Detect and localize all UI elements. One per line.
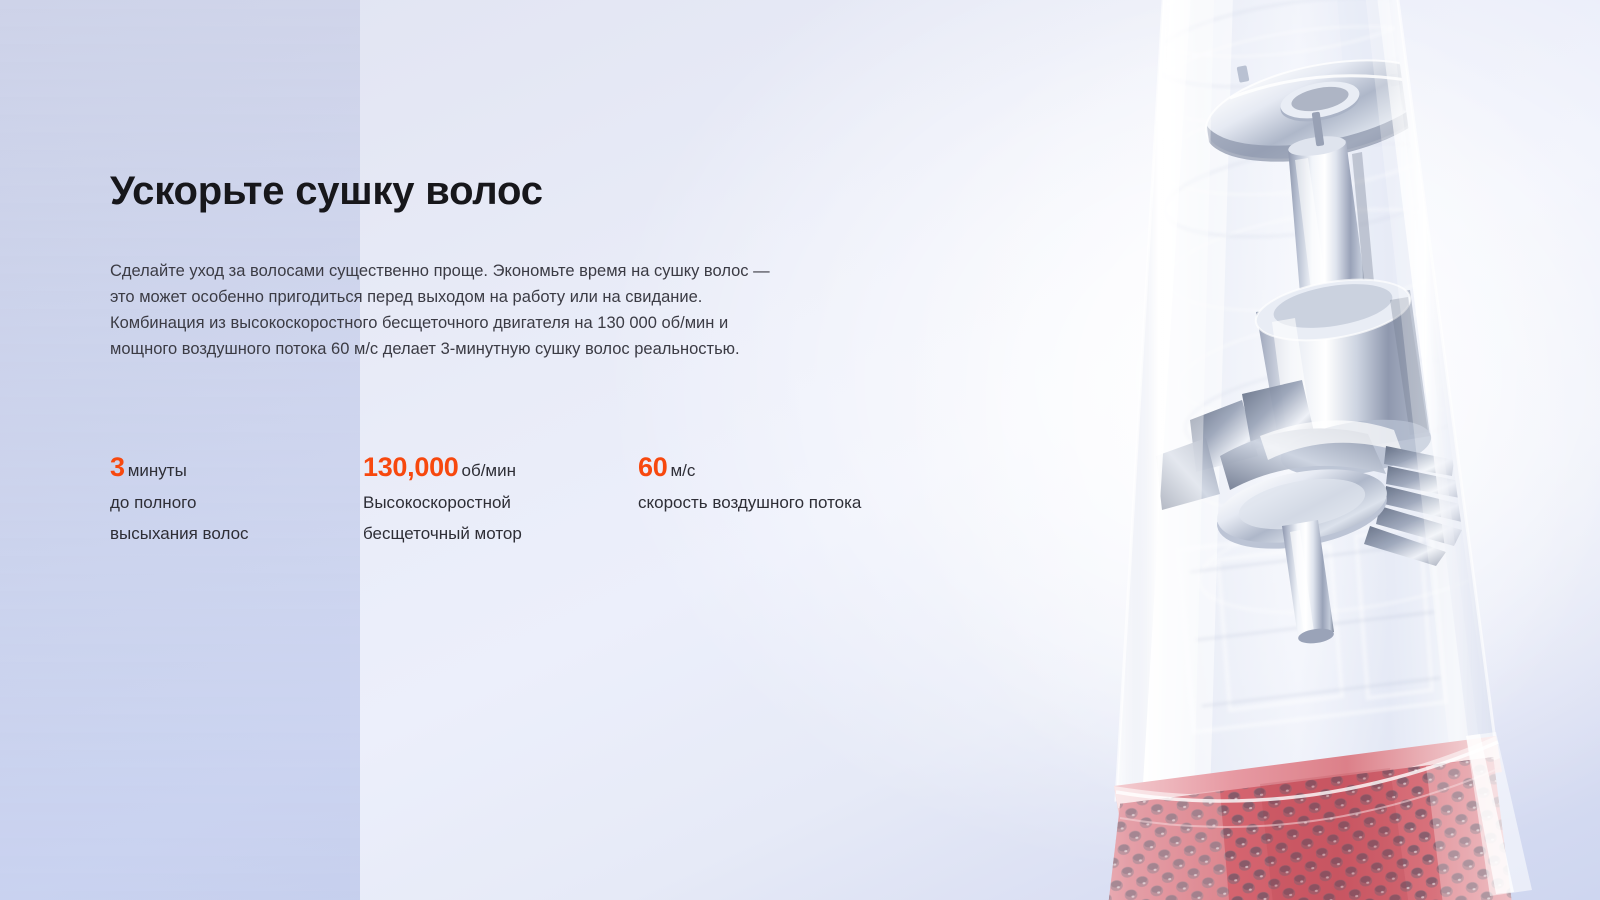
body-paragraph: Сделайте уход за волосами существенно пр… — [110, 258, 782, 362]
stat-headline: 130,000об/мин — [363, 452, 638, 486]
stat-unit: минуты — [128, 461, 187, 480]
stat-motor-rpm: 130,000об/мин Высокоскоростной бесщеточн… — [363, 452, 638, 548]
stats-row: 3минуты до полного высыхания волос 130,0… — [110, 452, 861, 548]
copy-block: Ускорьте сушку волос Сделайте уход за во… — [110, 168, 810, 362]
stat-description-line-1: скорость воздушного потока — [638, 488, 861, 517]
stat-unit: об/мин — [462, 461, 517, 480]
background-left-tint — [0, 0, 360, 900]
product-feature-banner: Ускорьте сушку волос Сделайте уход за во… — [0, 0, 1600, 900]
stat-description-line-1: до полного — [110, 488, 363, 517]
stat-airflow-speed: 60м/с скорость воздушного потока — [638, 452, 861, 517]
stat-unit: м/с — [670, 461, 695, 480]
stat-value: 3 — [110, 452, 125, 482]
stat-description-line-2: высыхания волос — [110, 519, 363, 548]
stat-headline: 60м/с — [638, 452, 861, 486]
stat-description-line-1: Высокоскоростной — [363, 488, 638, 517]
stat-headline: 3минуты — [110, 452, 363, 486]
stat-value: 60 — [638, 452, 667, 482]
page-title: Ускорьте сушку волос — [110, 168, 810, 214]
stat-value: 130,000 — [363, 452, 459, 482]
product-image — [790, 0, 1600, 900]
stat-drying-time: 3минуты до полного высыхания волос — [110, 452, 363, 548]
stat-description-line-2: бесщеточный мотор — [363, 519, 638, 548]
background-right-glow — [840, 0, 1600, 900]
